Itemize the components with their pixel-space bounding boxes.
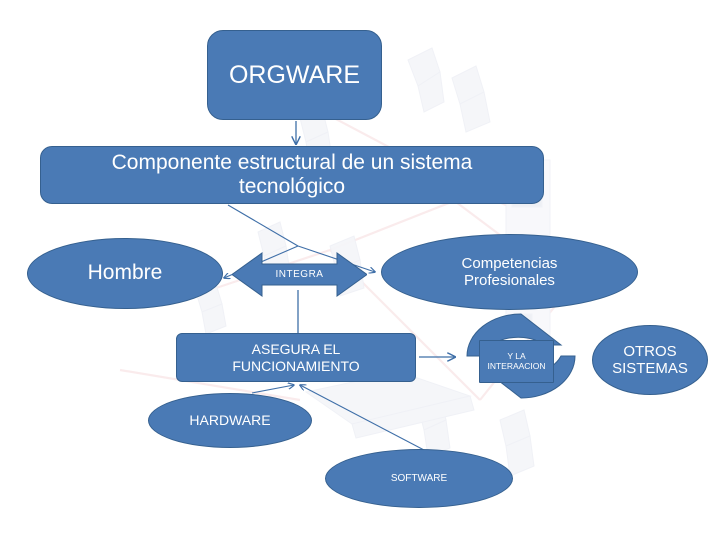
node-integra-label: INTEGRA	[276, 269, 324, 281]
diagram-slide: ORGWARE Componente estructural de un sis…	[0, 0, 728, 546]
node-asegura-el-funcionamiento[interactable]: ASEGURA EL FUNCIONAMIENTO	[176, 333, 416, 382]
node-y-la-interaacion[interactable]: Y LA INTERAACION	[479, 340, 554, 383]
node-software[interactable]: SOFTWARE	[325, 449, 513, 508]
node-otros-sistemas[interactable]: OTROS SISTEMAS	[592, 325, 708, 395]
node-componente-estructural[interactable]: Componente estructural de un sistema tec…	[40, 146, 544, 204]
connector-componente-stem	[228, 205, 298, 246]
node-hombre[interactable]: Hombre	[27, 238, 223, 309]
connector-software-to-asegura	[300, 385, 424, 450]
node-competencias-profesionales[interactable]: Competencias Profesionales	[381, 234, 638, 310]
connector-hardware-to-asegura	[252, 385, 294, 393]
node-hardware[interactable]: HARDWARE	[148, 393, 312, 448]
node-integra-double-arrow[interactable]: INTEGRA	[232, 251, 367, 298]
node-orgware[interactable]: ORGWARE	[207, 30, 382, 120]
